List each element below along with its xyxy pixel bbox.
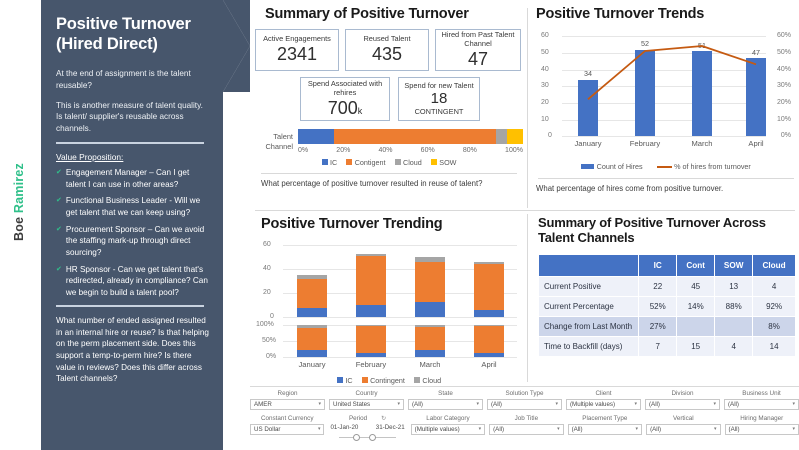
x-axis-label-january: January xyxy=(563,139,613,148)
kpi-reused-talent[interactable]: Reused Talent 435 xyxy=(345,29,429,71)
gridline xyxy=(283,317,517,318)
y-axis-tick-0: 0 xyxy=(270,313,274,320)
chevron-down-icon: ▾ xyxy=(792,401,795,407)
cell-backfill-cont: 15 xyxy=(677,337,715,357)
filter-dropdown-state[interactable]: (All) ▾ xyxy=(408,399,483,410)
cell-backfill-sow: 4 xyxy=(715,337,753,357)
x-axis-label-february: February xyxy=(346,360,396,369)
period-end-value[interactable]: 31-Dec-21 xyxy=(376,424,405,431)
filter-row-1: Region AMER ▾ Country United States ▾ St… xyxy=(250,390,799,410)
legend-swatch xyxy=(414,377,420,383)
kpi-value: 47 xyxy=(468,50,488,70)
chevron-down-icon: ▾ xyxy=(636,426,639,432)
x-axis-label-january: January xyxy=(287,360,337,369)
check-icon: ✔ xyxy=(56,224,62,259)
chevron-down-icon: ▾ xyxy=(557,426,560,432)
filter-labor-category: Labor Category (Multiple values) ▾ xyxy=(411,415,485,443)
talent-channel-stacked-bar[interactable] xyxy=(298,129,523,144)
kpi-hired-from-past-talent-channel[interactable]: Hired from Past Talent Channel 47 xyxy=(435,29,521,71)
filter-label: Country xyxy=(329,390,404,399)
segment-contingent xyxy=(474,326,504,354)
filter-value: (All) xyxy=(493,426,504,433)
gridline xyxy=(283,357,517,358)
sidebar-intro-2: This is another measure of talent qualit… xyxy=(56,100,210,135)
axis-tick: 40% xyxy=(378,147,392,154)
chevron-down-icon: ▾ xyxy=(318,426,321,432)
y2-axis-tick: 40% xyxy=(777,66,791,73)
bar-february[interactable] xyxy=(635,50,655,137)
table-header-sow[interactable]: SOW xyxy=(715,255,753,277)
table-header-row: IC Cont SOW Cloud xyxy=(539,255,796,277)
bar-march[interactable] xyxy=(692,51,712,136)
bar-january[interactable] xyxy=(578,80,598,137)
legend-item-cloud[interactable]: Cloud xyxy=(414,376,441,385)
segment-contingent xyxy=(297,279,327,308)
cell-backfill-ic: 7 xyxy=(639,337,677,357)
filter-dropdown-business-unit[interactable]: (All) ▾ xyxy=(724,399,799,410)
sidebar-title: Positive Turnover (Hired Direct) xyxy=(56,14,210,54)
summary-legend: IC Contigent Cloud SOW xyxy=(255,158,523,167)
cell-current-percentage-cloud: 92% xyxy=(753,297,796,317)
x-axis-label-february: February xyxy=(620,139,670,148)
period-range-slider[interactable] xyxy=(328,433,406,443)
cell-change-cloud: 8% xyxy=(753,317,796,337)
bar-april[interactable] xyxy=(746,58,766,136)
y2-axis-tick-50: 50% xyxy=(262,337,276,344)
chevron-down-icon: ▾ xyxy=(397,401,400,407)
trends-title: Positive Turnover Trends xyxy=(536,6,796,22)
filter-label: Constant Currency xyxy=(250,415,324,424)
divider-horizontal-mid xyxy=(255,210,795,211)
filter-label: Division xyxy=(645,390,720,399)
stack-segment-contigent xyxy=(334,129,496,144)
y2-axis-tick: 30% xyxy=(777,82,791,89)
stacked-bar-january-percent[interactable] xyxy=(297,325,327,357)
check-icon: ✔ xyxy=(56,264,62,299)
divider-vertical-center-lower xyxy=(527,214,528,382)
filter-period-label: Period xyxy=(349,415,367,424)
y-axis-tick: 40 xyxy=(541,66,549,73)
segment-contingent xyxy=(356,326,386,353)
talent-channel-row-label: Talent Channel xyxy=(255,132,293,151)
filter-label: Vertical xyxy=(646,415,720,424)
gridline xyxy=(562,136,766,137)
channel-summary-panel: Summary of Positive Turnover Across Tale… xyxy=(538,216,796,382)
segment-contingent xyxy=(415,327,445,351)
period-start-value[interactable]: 01-Jan-20 xyxy=(330,424,358,431)
trending-panel: Positive Turnover Trending 60 40 20 0 xyxy=(255,216,523,382)
filter-value: (All) xyxy=(729,426,740,433)
stack-segment-sow xyxy=(507,129,523,144)
y-axis-tick-40: 40 xyxy=(263,265,271,272)
filter-label: Placement Type xyxy=(568,415,642,424)
stacked-bar-march-percent[interactable] xyxy=(415,325,445,357)
filter-dropdown-hiring-manager[interactable]: (All) ▾ xyxy=(725,424,799,435)
cell-change-sow xyxy=(715,317,753,337)
filter-value: (All) xyxy=(649,401,660,408)
table-header-cont[interactable]: Cont xyxy=(677,255,715,277)
legend-label: SOW xyxy=(439,158,456,167)
value-proposition-text: Engagement Manager – Can I get talent I … xyxy=(66,167,210,190)
trends-note: What percentage of hires come from posit… xyxy=(536,184,796,195)
sidebar-footer-text: What number of ended assigned resulted i… xyxy=(56,315,210,385)
value-proposition-item: ✔ Engagement Manager – Can I get talent … xyxy=(56,167,210,190)
x-axis-label-march: March xyxy=(405,360,455,369)
kpi-sublabel: CONTINGENT xyxy=(415,108,464,117)
stack-segment-cloud xyxy=(496,129,507,144)
period-range-values: 01-Jan-20 31-Dec-21 xyxy=(328,424,406,431)
legend-label: Cloud xyxy=(403,158,422,167)
gridline xyxy=(562,36,766,37)
filter-value: (All) xyxy=(491,401,502,408)
kpi-active-engagements[interactable]: Active Engagements 2341 xyxy=(255,29,339,71)
bar-label-january: 34 xyxy=(578,69,598,78)
filter-value: (Multiple values) xyxy=(415,426,460,433)
cell-current-percentage-ic: 52% xyxy=(639,297,677,317)
segment-contingent xyxy=(297,328,327,350)
filter-label: State xyxy=(408,390,483,399)
y-axis-tick: 20 xyxy=(541,99,549,106)
y-axis-tick: 50 xyxy=(541,49,549,56)
gridline xyxy=(562,53,766,54)
segment-ic xyxy=(474,310,504,317)
stacked-bar-march-counts[interactable] xyxy=(415,257,445,317)
trends-note-divider xyxy=(538,178,794,179)
filter-dropdown-labor-category[interactable]: (Multiple values) ▾ xyxy=(411,424,485,435)
segment-contingent xyxy=(356,256,386,305)
y2-axis-tick: 50% xyxy=(777,49,791,56)
legend-swatch xyxy=(581,164,594,169)
filter-label: Labor Category xyxy=(411,415,485,424)
filter-label: Job Title xyxy=(489,415,563,424)
slider-track xyxy=(339,437,395,438)
kpi-value: 435 xyxy=(372,45,402,65)
legend-label: IC xyxy=(330,158,337,167)
summary-note-divider xyxy=(261,173,517,174)
y2-axis-tick: 0% xyxy=(781,132,791,139)
author-last-name: Ramirez xyxy=(12,163,26,213)
filter-vertical: Vertical (All) ▾ xyxy=(646,415,720,443)
legend-item-sow[interactable]: SOW xyxy=(431,158,457,167)
chevron-down-icon: ▾ xyxy=(479,426,482,432)
filter-label: Solution Type xyxy=(487,390,562,399)
stacked-bar-april-counts[interactable] xyxy=(474,262,504,317)
slider-knob-right[interactable] xyxy=(369,434,376,441)
cell-current-positive-sow: 13 xyxy=(715,277,753,297)
filter-top-divider xyxy=(250,386,799,387)
table-row: Change from Last Month 27% 8% xyxy=(539,317,796,337)
segment-contingent xyxy=(474,264,504,310)
trending-title: Positive Turnover Trending xyxy=(261,216,523,232)
cell-current-positive-ic: 22 xyxy=(639,277,677,297)
y-axis-tick: 60 xyxy=(541,32,549,39)
legend-label: % of hires from turnover xyxy=(674,162,751,171)
filter-solution-type: Solution Type (All) ▾ xyxy=(487,390,562,410)
divider-vertical-center xyxy=(527,8,528,208)
legend-swatch xyxy=(346,159,352,165)
kpi-value: 700k xyxy=(328,99,363,119)
chevron-down-icon: ▾ xyxy=(555,401,558,407)
legend-item-contigent[interactable]: Contigent xyxy=(346,158,385,167)
summary-title: Summary of Positive Turnover xyxy=(265,6,523,22)
filter-value: (All) xyxy=(572,426,583,433)
cell-current-positive-cont: 45 xyxy=(677,277,715,297)
table-row: Current Percentage 52% 14% 88% 92% xyxy=(539,297,796,317)
x-axis-label-april: April xyxy=(731,139,781,148)
axis-tick: 60% xyxy=(421,147,435,154)
author-strip: Boe Ramirez xyxy=(0,0,38,450)
legend-label: Contingent xyxy=(370,376,405,385)
axis-tick: 100% xyxy=(505,147,523,154)
chevron-down-icon: ▾ xyxy=(634,401,637,407)
segment-contingent xyxy=(415,262,445,302)
value-proposition-item: ✔ Procurement Sponsor – Can we avoid the… xyxy=(56,224,210,259)
y2-axis-tick-0: 0% xyxy=(266,353,276,360)
legend-line-swatch xyxy=(657,166,672,168)
legend-label: Count of Hires xyxy=(597,162,643,171)
y-axis-tick-20: 20 xyxy=(263,289,271,296)
segment-ic xyxy=(297,350,327,358)
filter-label: Hiring Manager xyxy=(725,415,799,424)
legend-swatch xyxy=(337,377,343,383)
table-row: Time to Backfill (days) 7 15 4 14 xyxy=(539,337,796,357)
x-axis-label-april: April xyxy=(464,360,514,369)
author-name: Boe Ramirez xyxy=(12,137,26,267)
cell-current-positive-cloud: 4 xyxy=(753,277,796,297)
kpi-label: Active Engagements xyxy=(263,35,331,44)
chevron-down-icon: ▾ xyxy=(318,401,321,407)
table-row: Current Positive 22 45 13 4 xyxy=(539,277,796,297)
sidebar-arrow-icon xyxy=(223,0,250,92)
table-header-blank xyxy=(539,255,639,277)
value-proposition-heading: Value Proposition: xyxy=(56,152,210,162)
axis-tick: 20% xyxy=(336,147,350,154)
kpi-value: 18 xyxy=(431,91,448,108)
filter-dropdown-client[interactable]: (Multiple values) ▾ xyxy=(566,399,641,410)
filter-value: (All) xyxy=(728,401,739,408)
filter-period: Period ↻ 01-Jan-20 31-Dec-21 xyxy=(328,415,406,443)
legend-item-contingent[interactable]: Contingent xyxy=(362,376,405,385)
legend-item-count-of-hires[interactable]: Count of Hires xyxy=(581,162,642,171)
trends-legend: Count of Hires % of hires from turnover xyxy=(536,162,796,171)
segment-ic xyxy=(356,353,386,357)
check-icon: ✔ xyxy=(56,195,62,218)
filter-value: United States xyxy=(333,401,370,408)
sidebar-divider-bottom xyxy=(56,305,204,307)
stacked-bar-april-percent[interactable] xyxy=(474,325,504,357)
x-axis-label-march: March xyxy=(677,139,727,148)
filter-dropdown-country[interactable]: United States ▾ xyxy=(329,399,404,410)
filter-value: (Multiple values) xyxy=(570,401,615,408)
channel-summary-table[interactable]: IC Cont SOW Cloud Current Positive 22 45… xyxy=(538,254,796,357)
filter-placement-type: Placement Type (All) ▾ xyxy=(568,415,642,443)
kpi-spend-for-new-talent[interactable]: Spend for new Talent 18 CONTINGENT xyxy=(398,77,480,121)
legend-item-pct-hires-turnover[interactable]: % of hires from turnover xyxy=(657,162,751,171)
cell-current-percentage-sow: 88% xyxy=(715,297,753,317)
sidebar-divider-top xyxy=(56,142,204,144)
y-axis-tick: 10 xyxy=(541,116,549,123)
trends-panel: Positive Turnover Trends 60 50 40 30 20 … xyxy=(536,6,796,206)
filter-dropdown-job-title[interactable]: (All) ▾ xyxy=(489,424,563,435)
segment-ic xyxy=(356,305,386,317)
chevron-down-icon: ▾ xyxy=(792,426,795,432)
filter-value: (All) xyxy=(412,401,423,408)
legend-item-cloud[interactable]: Cloud xyxy=(395,158,422,167)
cell-change-ic: 27% xyxy=(639,317,677,337)
trending-legend: IC Contingent Cloud xyxy=(255,376,523,385)
bar-label-april: 47 xyxy=(746,48,766,57)
filter-dropdown-division[interactable]: (All) ▾ xyxy=(645,399,720,410)
y2-axis-tick-100: 100% xyxy=(256,321,274,328)
filter-dropdown-placement-type[interactable]: (All) ▾ xyxy=(568,424,642,435)
channel-summary-title: Summary of Positive Turnover Across Tale… xyxy=(538,216,796,245)
filter-client: Client (Multiple values) ▾ xyxy=(566,390,641,410)
filter-hiring-manager: Hiring Manager (All) ▾ xyxy=(725,415,799,443)
trending-chart[interactable]: 60 40 20 0 xyxy=(255,241,521,371)
check-icon: ✔ xyxy=(56,167,62,190)
stacked-bar-february-percent[interactable] xyxy=(356,325,386,357)
filter-row-2: Constant Currency US Dollar ▾ Period ↻ 0… xyxy=(250,415,799,443)
table-header-ic[interactable]: IC xyxy=(639,255,677,277)
filter-value: AMER xyxy=(254,401,272,408)
kpi-spend-associated-with-rehires[interactable]: Spend Associated with rehires 700k xyxy=(300,77,390,121)
chevron-down-icon: ▾ xyxy=(713,401,716,407)
legend-label: Cloud xyxy=(422,376,441,385)
filter-state: State (All) ▾ xyxy=(408,390,483,410)
y2-axis-tick: 20% xyxy=(777,99,791,106)
filter-division: Division (All) ▾ xyxy=(645,390,720,410)
y-axis-tick: 0 xyxy=(548,132,552,139)
summary-panel: Summary of Positive Turnover Active Enga… xyxy=(255,6,523,206)
value-proposition-item: ✔ Functional Business Leader - Will we g… xyxy=(56,195,210,218)
legend-swatch xyxy=(431,159,437,165)
value-proposition-item: ✔ HR Sponsor - Can we get talent that's … xyxy=(56,264,210,299)
filter-bar: Region AMER ▾ Country United States ▾ St… xyxy=(250,386,799,450)
filter-label: Period ↻ xyxy=(328,415,406,424)
kpi-value: 2341 xyxy=(277,45,317,65)
kpi-value-unit: k xyxy=(358,106,363,116)
segment-ic xyxy=(297,308,327,318)
kpi-label: Spend Associated with rehires xyxy=(304,80,386,98)
sidebar-intro-1: At the end of assignment is the talent r… xyxy=(56,68,210,91)
bar-label-february: 52 xyxy=(635,39,655,48)
filter-job-title: Job Title (All) ▾ xyxy=(489,415,563,443)
filter-business-unit: Business Unit (All) ▾ xyxy=(724,390,799,410)
row-label-time-to-backfill: Time to Backfill (days) xyxy=(539,337,639,357)
filter-label: Business Unit xyxy=(724,390,799,399)
kpi-label: Spend for new Talent xyxy=(404,82,473,91)
filter-value: US Dollar xyxy=(254,426,280,433)
filter-label: Region xyxy=(250,390,325,399)
stacked-bar-january-counts[interactable] xyxy=(297,275,327,317)
segment-ic xyxy=(415,302,445,318)
filter-dropdown-region[interactable]: AMER ▾ xyxy=(250,399,325,410)
gridline xyxy=(283,245,517,246)
value-proposition-text: Procurement Sponsor – Can we avoid the s… xyxy=(66,224,210,259)
filter-country: Country United States ▾ xyxy=(329,390,404,410)
row-label-current-percentage: Current Percentage xyxy=(539,297,639,317)
filter-dropdown-vertical[interactable]: (All) ▾ xyxy=(646,424,720,435)
bar-label-march: 51 xyxy=(692,41,712,50)
segment-ic xyxy=(415,350,445,357)
dashboard-root: Boe Ramirez Positive Turnover (Hired Dir… xyxy=(0,0,799,450)
legend-label: IC xyxy=(345,376,352,385)
row-label-change-from-last-month: Change from Last Month xyxy=(539,317,639,337)
filter-dropdown-constant-currency[interactable]: US Dollar ▾ xyxy=(250,424,324,435)
slider-knob-left[interactable] xyxy=(353,434,360,441)
legend-item-ic[interactable]: IC xyxy=(322,158,338,167)
chevron-down-icon: ▾ xyxy=(476,401,479,407)
legend-item-ic[interactable]: IC xyxy=(337,376,353,385)
table-header-cloud[interactable]: Cloud xyxy=(753,255,796,277)
kpi-label: Hired from Past Talent Channel xyxy=(439,31,517,49)
author-first-name: Boe xyxy=(12,217,26,241)
chevron-down-icon: ▾ xyxy=(714,426,717,432)
filter-constant-currency: Constant Currency US Dollar ▾ xyxy=(250,415,324,443)
filter-region: Region AMER ▾ xyxy=(250,390,325,410)
cell-change-cont xyxy=(677,317,715,337)
kpi-value-number: 700 xyxy=(328,98,358,118)
cell-backfill-cloud: 14 xyxy=(753,337,796,357)
y-axis-tick-60: 60 xyxy=(263,241,271,248)
segment-ic xyxy=(474,353,504,357)
legend-swatch xyxy=(362,377,368,383)
legend-swatch xyxy=(395,159,401,165)
y-axis-tick: 30 xyxy=(541,82,549,89)
kpi-label: Reused Talent xyxy=(363,35,410,44)
summary-note: What percentage of positive turnover res… xyxy=(255,179,523,190)
talent-channel-axis: 0% 20% 40% 60% 80% 100% xyxy=(298,147,523,154)
row-label-current-positive: Current Positive xyxy=(539,277,639,297)
filter-value: (All) xyxy=(650,426,661,433)
info-sidebar: Positive Turnover (Hired Direct) At the … xyxy=(41,0,223,450)
legend-swatch xyxy=(322,159,328,165)
stacked-bar-february-counts[interactable] xyxy=(356,254,386,318)
stack-segment-ic xyxy=(298,129,334,144)
reset-icon[interactable]: ↻ xyxy=(381,415,386,424)
y2-axis-tick: 10% xyxy=(777,116,791,123)
filter-label: Client xyxy=(566,390,641,399)
axis-tick: 0% xyxy=(298,147,308,154)
value-proposition-text: Functional Business Leader - Will we get… xyxy=(66,195,210,218)
cell-current-percentage-cont: 14% xyxy=(677,297,715,317)
value-proposition-text: HR Sponsor - Can we get talent that's re… xyxy=(66,264,210,299)
axis-tick: 80% xyxy=(463,147,477,154)
legend-label: Contigent xyxy=(355,158,386,167)
trends-chart[interactable]: 60 50 40 30 20 10 0 60% 50% 40% 30% 20% … xyxy=(536,30,794,150)
filter-dropdown-solution-type[interactable]: (All) ▾ xyxy=(487,399,562,410)
y2-axis-tick: 60% xyxy=(777,32,791,39)
